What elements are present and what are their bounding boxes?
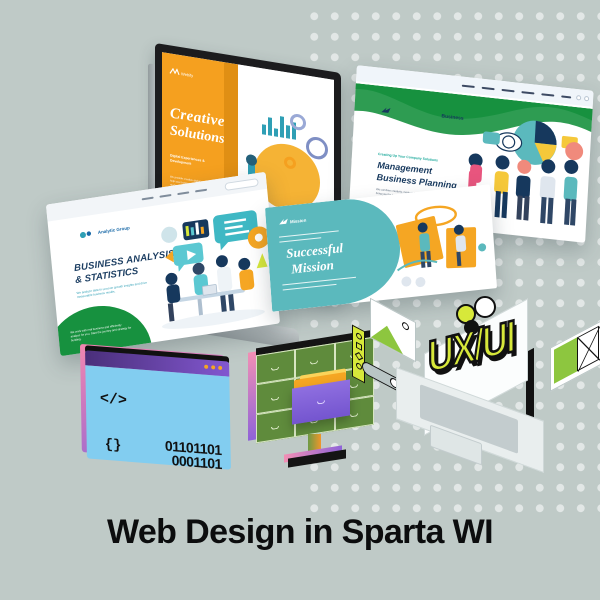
analysis-logo-text: Analytic Group — [98, 225, 130, 235]
nav-dash — [462, 85, 475, 88]
business-analysis-card[interactable]: Analytic Group BUSINESS ANALYSIS & STATI… — [46, 172, 280, 356]
wireframe-icon — [550, 320, 600, 392]
drawer-handle-icon[interactable] — [310, 361, 318, 365]
drawer-handle-icon[interactable] — [350, 413, 358, 417]
code-browser-window[interactable]: </> {} 01101101 0001101 — [85, 350, 231, 470]
nav-dash — [142, 197, 154, 201]
window-dot[interactable] — [211, 365, 215, 369]
window-dot[interactable] — [204, 365, 208, 369]
nav-dash — [177, 191, 189, 195]
svg-text:Webify: Webify — [181, 71, 193, 78]
nav-dash — [482, 87, 495, 90]
code-tag-icon: </> — [100, 390, 127, 409]
nav-dash — [521, 91, 534, 94]
binary-line-2: 0001101 — [171, 452, 222, 472]
tool-circle[interactable] — [356, 331, 362, 340]
drawer-handle-icon[interactable] — [271, 397, 279, 401]
search-icon[interactable] — [576, 95, 581, 101]
page-title: Web Design in Sparta WI — [0, 513, 600, 552]
drawer-handle-icon[interactable] — [317, 400, 325, 404]
cabinet-drawer[interactable] — [256, 408, 295, 443]
nav-dash — [541, 93, 554, 96]
search-input[interactable] — [224, 178, 258, 191]
code-window-body: </> {} 01101101 0001101 — [85, 365, 231, 469]
code-brace-icon: {} — [105, 437, 122, 454]
nav-dash — [195, 189, 207, 193]
window-control-dots[interactable] — [204, 365, 222, 370]
poster-canvas: Webify Creative Solutions Digital Experi… — [0, 0, 600, 600]
wireframe-green-block — [554, 337, 578, 384]
tool-circle[interactable] — [356, 361, 362, 370]
nav-dash — [502, 89, 515, 92]
wireframe-cross-box — [577, 326, 599, 372]
drawer-handle-icon[interactable] — [271, 426, 279, 430]
window-dot[interactable] — [218, 366, 222, 370]
sun-dot-icon — [402, 321, 409, 332]
management-title-line2: Business Planning — [376, 172, 457, 191]
analysis-logo: Analytic Group — [79, 225, 130, 240]
menu-icon[interactable] — [584, 95, 589, 101]
drawer-handle-icon[interactable] — [271, 367, 279, 371]
successful-mission-card[interactable]: Mission Successful Mission — [265, 184, 497, 311]
tool-diamond[interactable] — [354, 352, 362, 360]
meeting-illustration — [144, 202, 278, 336]
tool-square[interactable] — [356, 341, 362, 350]
nav-dash — [159, 194, 171, 198]
uxui-laptop-scene: UX/UI — [378, 306, 578, 481]
mission-illustration — [387, 190, 497, 295]
drawer-handle-icon[interactable] — [350, 384, 358, 388]
nav-dash — [561, 95, 571, 98]
toolbar-icon[interactable] — [352, 325, 365, 384]
